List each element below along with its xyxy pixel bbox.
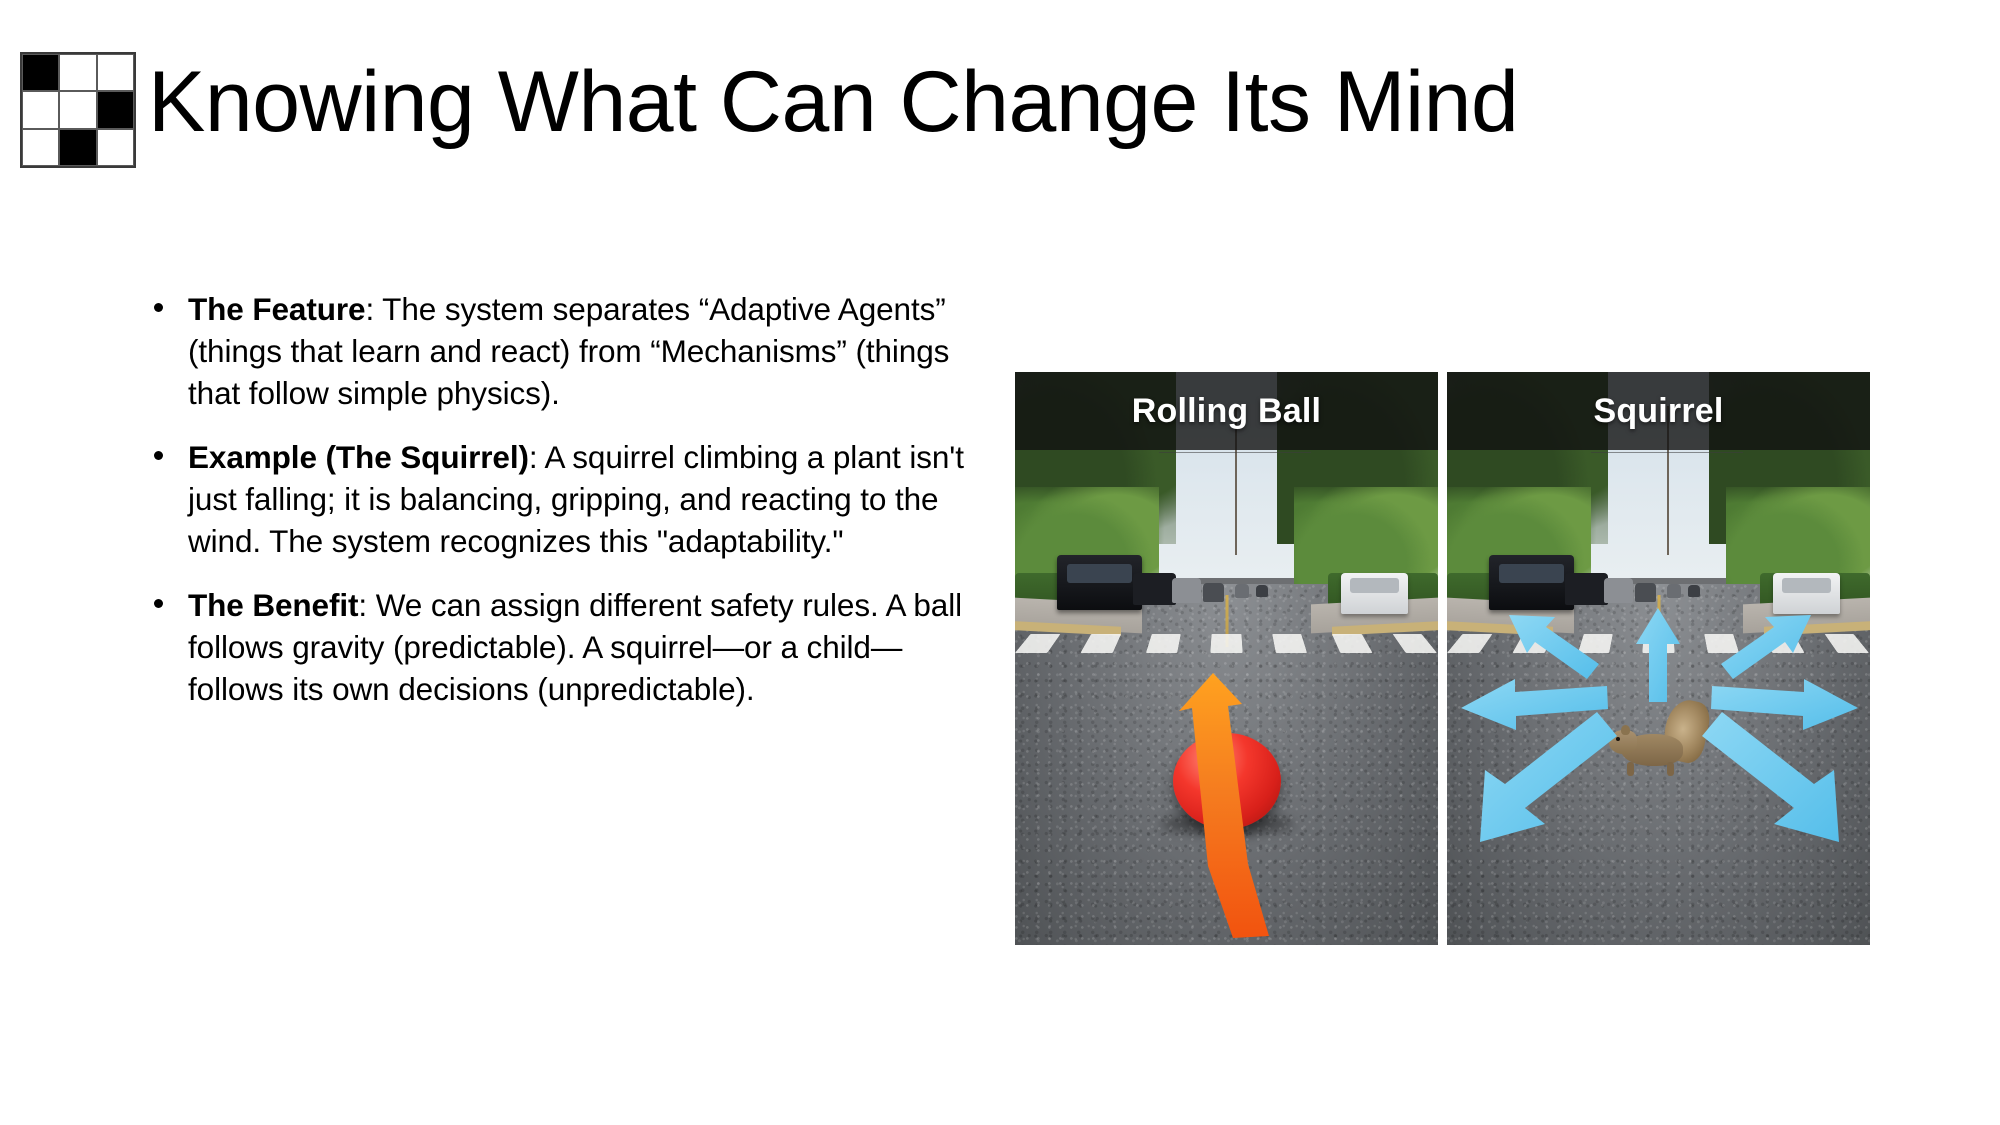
street-scene-right	[1447, 372, 1870, 945]
arrow-down-left	[1480, 712, 1617, 842]
arrow-up	[1636, 608, 1680, 702]
figure-caption-right: Squirrel	[1593, 392, 1723, 431]
figure-caption-left: Rolling Ball	[1132, 392, 1321, 431]
bullet-lead: The Benefit	[188, 587, 358, 623]
street-scene-left	[1015, 372, 1438, 945]
logo-cell-r3c2	[59, 129, 96, 166]
bullet-item-benefit: The Benefit: We can assign different saf…	[140, 584, 980, 710]
logo-cell-r3c1	[22, 129, 59, 166]
slide-header: Knowing What Can Change Its Mind	[0, 0, 2000, 200]
logo-cell-r1c2	[59, 54, 96, 91]
page-title: Knowing What Can Change Its Mind	[148, 50, 1908, 154]
arrow-up-right	[1721, 615, 1811, 679]
orange-forward-arrow	[1179, 673, 1269, 938]
bullet-lead: Example (The Squirrel)	[188, 439, 529, 475]
slide: Knowing What Can Change Its Mind The Fea…	[0, 0, 2000, 1125]
logo-cell-r2c3	[97, 91, 134, 128]
figure-rolling-ball: Rolling Ball	[1015, 372, 1438, 945]
checkerboard-logo-icon	[20, 52, 136, 168]
arrow-overlay-radial	[1447, 372, 1870, 945]
figure-squirrel: Squirrel	[1447, 372, 1870, 945]
arrow-down-right	[1702, 712, 1839, 842]
bullet-item-example: Example (The Squirrel): A squirrel climb…	[140, 436, 980, 562]
figure-caption-band-left: Rolling Ball	[1015, 372, 1438, 450]
bullet-dot-icon	[154, 303, 163, 312]
logo-cell-r2c2	[59, 91, 96, 128]
logo-cell-r2c1	[22, 91, 59, 128]
logo-cell-r1c3	[97, 54, 134, 91]
arrow-up-left	[1509, 615, 1599, 679]
logo-cell-r1c1	[22, 54, 59, 91]
figure-pair: Rolling Ball	[1015, 372, 1870, 945]
bullet-dot-icon	[154, 599, 163, 608]
bullet-item-feature: The Feature: The system separates “Adapt…	[140, 288, 980, 414]
bullet-lead: The Feature	[188, 291, 365, 327]
bullet-dot-icon	[154, 451, 163, 460]
bullet-list: The Feature: The system separates “Adapt…	[140, 288, 980, 710]
arrow-overlay-single	[1015, 372, 1438, 945]
figure-caption-band-right: Squirrel	[1447, 372, 1870, 450]
logo-cell-r3c3	[97, 129, 134, 166]
